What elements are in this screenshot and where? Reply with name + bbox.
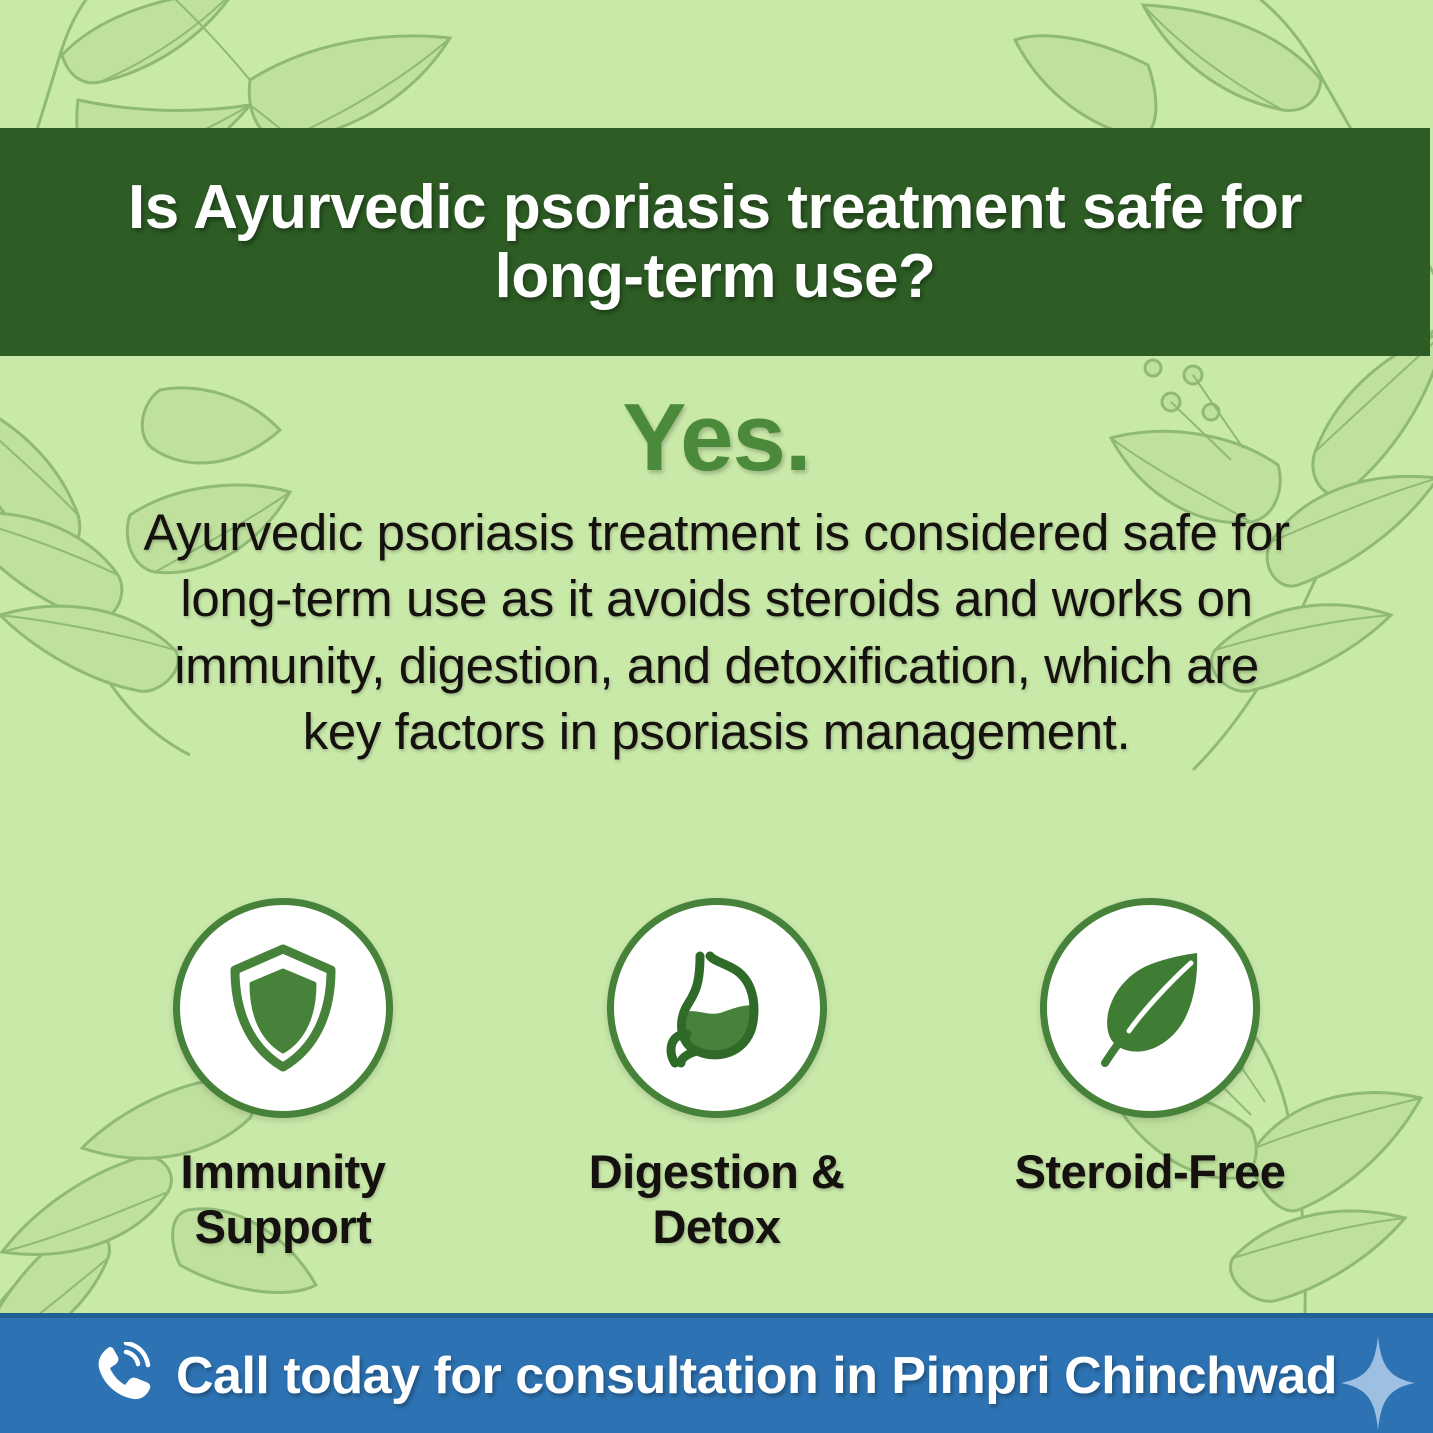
features-row: Immunity Support xyxy=(118,898,1315,1255)
header-banner: Is Ayurvedic psoriasis treatment safe fo… xyxy=(0,128,1430,356)
infographic-poster: Is Ayurvedic psoriasis treatment safe fo… xyxy=(0,0,1433,1433)
feature-item-immunity-support: Immunity Support xyxy=(118,898,448,1255)
feature-label: Digestion & Detox xyxy=(552,1144,882,1255)
stomach-icon xyxy=(651,942,783,1074)
feature-label: Steroid-Free xyxy=(1015,1144,1286,1199)
answer-section: Yes. Ayurvedic psoriasis treatment is co… xyxy=(0,390,1433,765)
feature-icon-circle xyxy=(1040,898,1260,1118)
feature-item-digestion-detox: Digestion & Detox xyxy=(552,898,882,1255)
answer-body-text: Ayurvedic psoriasis treatment is conside… xyxy=(130,500,1303,765)
leaf-icon xyxy=(1085,943,1215,1073)
cta-bar[interactable]: Call today for consultation in Pimpri Ch… xyxy=(0,1313,1433,1433)
phone-icon xyxy=(92,1342,154,1409)
sparkle-icon xyxy=(1341,1336,1415,1430)
shield-icon xyxy=(224,943,342,1073)
cta-inner: Call today for consultation in Pimpri Ch… xyxy=(0,1342,1337,1409)
feature-item-steroid-free: Steroid-Free xyxy=(985,898,1315,1199)
page-title: Is Ayurvedic psoriasis treatment safe fo… xyxy=(60,173,1370,312)
cta-text: Call today for consultation in Pimpri Ch… xyxy=(176,1346,1337,1406)
answer-headline: Yes. xyxy=(130,390,1303,486)
feature-icon-circle xyxy=(607,898,827,1118)
feature-icon-circle xyxy=(173,898,393,1118)
feature-label: Immunity Support xyxy=(118,1144,448,1255)
